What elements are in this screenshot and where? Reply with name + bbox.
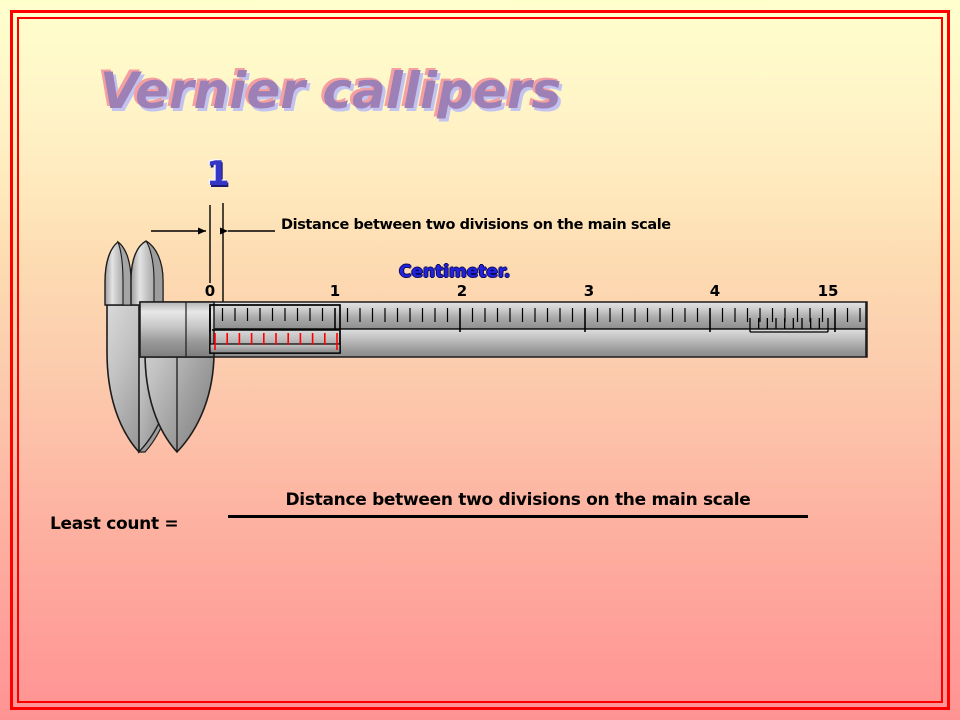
least-count-fraction: Distance between two divisions on the ma… bbox=[228, 490, 808, 518]
least-count-label: Least count = bbox=[50, 514, 178, 534]
vernier-calliper-illustration bbox=[0, 0, 960, 720]
fraction-numerator: Distance between two divisions on the ma… bbox=[228, 490, 808, 510]
slide-canvas: Vernier callipers 1 Distance between two… bbox=[0, 0, 960, 720]
fraction-bar bbox=[228, 515, 808, 518]
division-width-annotation bbox=[151, 203, 275, 310]
calliper-upper-jaws bbox=[105, 241, 163, 305]
calliper-fixed-head bbox=[140, 302, 214, 357]
